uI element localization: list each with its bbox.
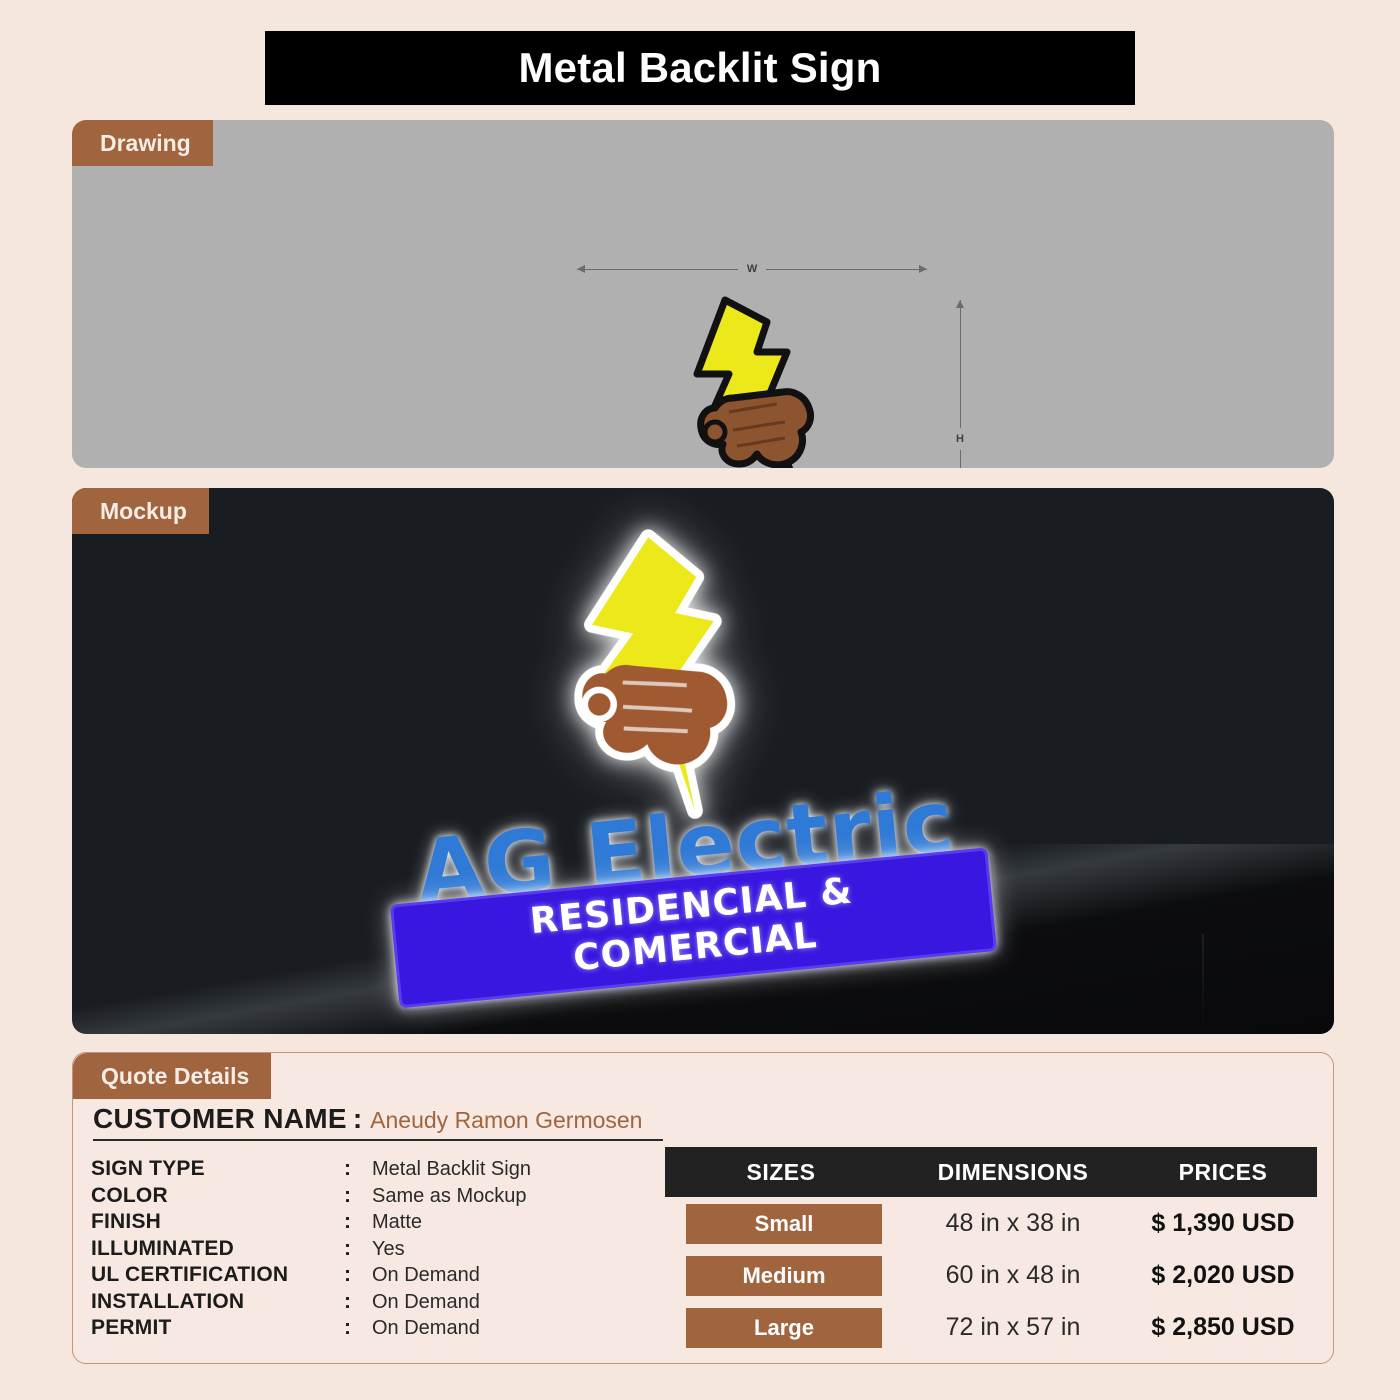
spec-key: ILLUMINATED	[91, 1237, 344, 1261]
spec-value: Matte	[372, 1211, 422, 1234]
spec-value: On Demand	[372, 1264, 480, 1287]
size-cell: Medium	[665, 1256, 897, 1296]
spec-row: FINISH : Matte	[91, 1210, 691, 1237]
mockup-tab-label: Mockup	[100, 498, 187, 525]
spec-row: COLOR : Same as Mockup	[91, 1184, 691, 1211]
spec-row: INSTALLATION : On Demand	[91, 1290, 691, 1317]
spec-key: PERMIT	[91, 1316, 344, 1340]
table-row: Small 48 in x 38 in $ 1,390 USD	[665, 1198, 1317, 1249]
price-table-header: SIZES DIMENSIONS PRICES	[665, 1147, 1317, 1197]
spec-row: PERMIT : On Demand	[91, 1316, 691, 1343]
size-badge: Medium	[686, 1256, 882, 1296]
height-dimension-label: H	[956, 428, 964, 450]
spec-row: SIGN TYPE : Metal Backlit Sign	[91, 1157, 691, 1184]
width-dimension-label: W	[738, 263, 766, 275]
column-header-sizes: SIZES	[665, 1159, 897, 1186]
price-table: SIZES DIMENSIONS PRICES Small 48 in x 38…	[665, 1147, 1317, 1353]
column-header-dimensions: DIMENSIONS	[897, 1159, 1129, 1186]
dimensions-cell: 48 in x 38 in	[897, 1209, 1129, 1238]
spec-row: UL CERTIFICATION : On Demand	[91, 1263, 691, 1290]
spec-value: Yes	[372, 1238, 405, 1261]
width-dimension-marker: W	[577, 260, 927, 278]
size-cell: Small	[665, 1204, 897, 1244]
quote-body: CUSTOMER NAME : Aneudy Ramon Germosen SI…	[73, 1099, 1333, 1365]
fist-bolt-icon	[667, 292, 857, 468]
price-cell: $ 2,850 USD	[1129, 1313, 1317, 1342]
spec-colon: :	[344, 1290, 372, 1314]
dimensions-cell: 72 in x 57 in	[897, 1313, 1129, 1342]
spec-key: SIGN TYPE	[91, 1157, 344, 1181]
customer-name-row: CUSTOMER NAME : Aneudy Ramon Germosen	[93, 1103, 663, 1141]
dimensions-cell: 60 in x 48 in	[897, 1261, 1129, 1290]
spec-colon: :	[344, 1263, 372, 1287]
mockup-tab: Mockup	[72, 488, 209, 534]
spec-row: ILLUMINATED : Yes	[91, 1237, 691, 1264]
spec-list: SIGN TYPE : Metal Backlit Sign COLOR : S…	[91, 1157, 691, 1343]
page-title-bar: Metal Backlit Sign	[265, 31, 1135, 105]
drawing-logo: AG Electric RESIDENCIAL & COMERCIAL	[572, 292, 932, 468]
quote-details-panel: Quote Details CUSTOMER NAME : Aneudy Ram…	[72, 1052, 1334, 1364]
mockup-logo: AG Electric RESIDENCIAL & COMERCIAL	[380, 524, 1000, 994]
mockup-fist-bolt-icon	[518, 501, 823, 837]
spec-colon: :	[344, 1184, 372, 1208]
table-row: Medium 60 in x 48 in $ 2,020 USD	[665, 1250, 1317, 1301]
spec-key: UL CERTIFICATION	[91, 1263, 344, 1287]
page-title: Metal Backlit Sign	[518, 44, 881, 92]
arrow-right-icon	[919, 265, 927, 273]
spec-colon: :	[344, 1316, 372, 1340]
spec-value: On Demand	[372, 1291, 480, 1314]
quote-details-tab: Quote Details	[73, 1053, 271, 1099]
size-badge: Small	[686, 1204, 882, 1244]
spec-key: INSTALLATION	[91, 1290, 344, 1314]
drawing-panel: Drawing W H	[72, 120, 1334, 468]
price-cell: $ 2,020 USD	[1129, 1261, 1317, 1290]
column-header-prices: PRICES	[1129, 1159, 1317, 1186]
spec-colon: :	[344, 1237, 372, 1261]
table-row: Large 72 in x 57 in $ 2,850 USD	[665, 1302, 1317, 1353]
quote-details-tab-label: Quote Details	[101, 1063, 249, 1090]
size-cell: Large	[665, 1308, 897, 1348]
drawing-tab: Drawing	[72, 120, 213, 166]
spec-key: COLOR	[91, 1184, 344, 1208]
customer-name-label: CUSTOMER NAME	[93, 1103, 347, 1135]
size-badge: Large	[686, 1308, 882, 1348]
spec-colon: :	[344, 1157, 372, 1181]
mockup-logo-text: AG Electric RESIDENCIAL & COMERCIAL	[383, 776, 997, 1009]
spec-value: On Demand	[372, 1317, 480, 1340]
spec-value: Same as Mockup	[372, 1185, 527, 1208]
drawing-tab-label: Drawing	[100, 130, 191, 157]
customer-name-value: Aneudy Ramon Germosen	[370, 1107, 642, 1134]
spec-colon: :	[344, 1210, 372, 1234]
customer-name-colon: :	[347, 1103, 370, 1135]
arrow-left-icon	[577, 265, 585, 273]
mockup-tagline: RESIDENCIAL & COMERCIAL	[528, 871, 854, 980]
wall-edge	[1202, 934, 1204, 1034]
height-dimension-marker: H	[951, 300, 969, 468]
quote-sheet: Metal Backlit Sign Drawing W H	[0, 0, 1400, 1400]
price-cell: $ 1,390 USD	[1129, 1209, 1317, 1238]
spec-value: Metal Backlit Sign	[372, 1158, 531, 1181]
spec-key: FINISH	[91, 1210, 344, 1234]
arrow-up-icon	[956, 300, 964, 308]
